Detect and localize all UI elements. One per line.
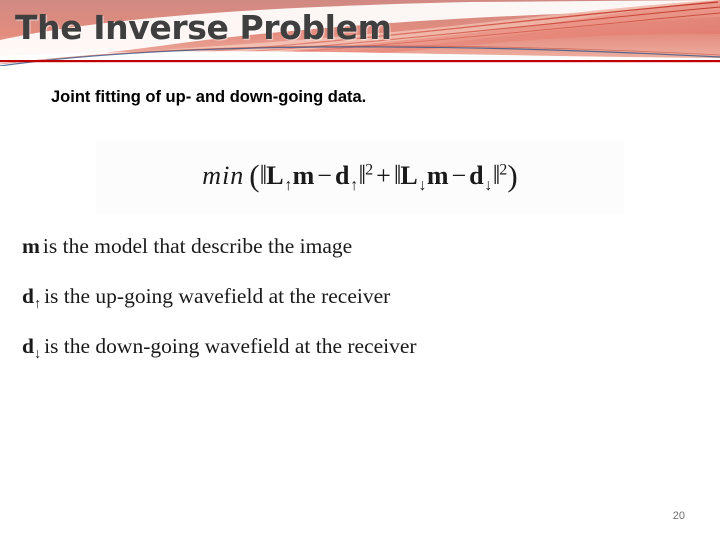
definition-line-upgoing: d↑is the up-going wavefield at the recei… [22, 284, 390, 313]
slide-canvas: The Inverse Problem Joint fitting of up-… [0, 0, 720, 540]
definition-text-m: is the model that describe the image [40, 234, 352, 258]
definition-symbol-d-up: d [22, 284, 34, 308]
eq-min-operator: min [202, 161, 249, 190]
eq-up-arrow-2: ↑ [349, 177, 358, 194]
eq-up-arrow-1: ↑ [284, 177, 293, 194]
eq-close-paren: ) [507, 158, 517, 193]
subtitle-text: Joint fitting of up- and down-going data… [51, 88, 366, 107]
definition-symbol-m: m [22, 234, 40, 258]
eq-exponent-1: 2 [365, 162, 373, 179]
eq-data-d-up: d [335, 161, 349, 190]
definition-text-d-down: is the down-going wavefield at the recei… [41, 334, 417, 358]
up-arrow-icon: ↑ [34, 296, 41, 312]
eq-open-paren: ( [249, 158, 259, 193]
eq-operator-L-down: L [400, 161, 417, 190]
eq-model-m-2: m [427, 161, 449, 190]
eq-minus-1: − [314, 161, 335, 190]
slide-number: 20 [673, 510, 685, 522]
objective-function-equation: min(‖L↑m−d↑‖2+‖L↓m−d↓‖2) [202, 160, 517, 194]
eq-operator-L-up: L [266, 161, 283, 190]
accent-rule [0, 60, 720, 62]
page-title: The Inverse Problem [15, 9, 392, 47]
equation-block: min(‖L↑m−d↑‖2+‖L↓m−d↓‖2) [96, 140, 624, 214]
definition-line-downgoing: d↓is the down-going wavefield at the rec… [22, 334, 417, 363]
definition-symbol-d-down: d [22, 334, 34, 358]
eq-model-m-1: m [293, 161, 315, 190]
eq-minus-2: − [449, 161, 470, 190]
definition-text-d-up: is the up-going wavefield at the receive… [41, 284, 390, 308]
eq-data-d-down: d [469, 161, 483, 190]
eq-down-arrow-1: ↓ [418, 177, 427, 194]
eq-down-arrow-2: ↓ [484, 177, 493, 194]
eq-plus: + [373, 161, 394, 190]
definition-line-model: mis the model that describe the image [22, 234, 352, 263]
down-arrow-icon: ↓ [34, 346, 41, 362]
